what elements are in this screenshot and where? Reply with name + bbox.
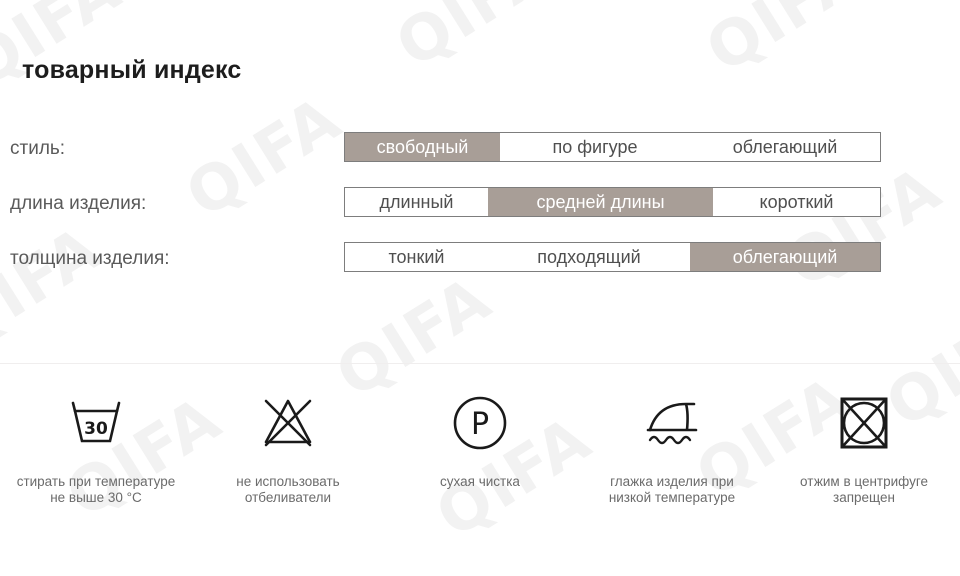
option-length-2[interactable]: короткий [713, 188, 880, 216]
care-caption-wash: стирать при температуре не выше 30 °C [17, 474, 176, 506]
option-style-1[interactable]: по фигуре [500, 133, 690, 161]
option-thickness-2[interactable]: облегающий [690, 243, 880, 271]
dry-clean-p-icon: P [450, 392, 510, 454]
attribute-list: стиль: свободный по фигуре облегающий дл… [0, 132, 960, 297]
attribute-row-length: длина изделия: длинный средней длины кор… [0, 187, 960, 242]
attribute-options-style[interactable]: свободный по фигуре облегающий [344, 132, 881, 162]
iron-low-temperature-icon [636, 392, 708, 454]
care-symbols-row: 30 стирать при температуре не выше 30 °C… [0, 392, 960, 506]
attribute-row-style: стиль: свободный по фигуре облегающий [0, 132, 960, 187]
wash-tub-30-icon: 30 [65, 392, 127, 454]
attribute-row-thickness: толщина изделия: тонкий подходящий облег… [0, 242, 960, 297]
attribute-options-length[interactable]: длинный средней длины короткий [344, 187, 881, 217]
option-style-2[interactable]: облегающий [690, 133, 880, 161]
page-title: товарный индекс [22, 56, 242, 85]
attribute-options-thickness[interactable]: тонкий подходящий облегающий [344, 242, 881, 272]
product-attributes-page: товарный индекс стиль: свободный по фигу… [0, 0, 960, 576]
care-caption-bleach: не использовать отбеливатели [236, 474, 339, 506]
care-caption-iron: глажка изделия при низкой температуре [609, 474, 735, 506]
do-not-tumble-spin-icon [834, 392, 894, 454]
option-length-1[interactable]: средней длины [488, 188, 713, 216]
care-item-iron: глажка изделия при низкой температуре [576, 392, 768, 506]
svg-text:P: P [471, 407, 489, 442]
attribute-label-style: стиль: [10, 138, 65, 160]
option-length-0[interactable]: длинный [345, 188, 488, 216]
attribute-label-length: длина изделия: [10, 193, 146, 215]
care-caption-spin: отжим в центрифуге запрещен [800, 474, 928, 506]
option-thickness-0[interactable]: тонкий [345, 243, 488, 271]
care-item-bleach: не использовать отбеливатели [192, 392, 384, 506]
care-item-spin: отжим в центрифуге запрещен [768, 392, 960, 506]
care-item-wash: 30 стирать при температуре не выше 30 °C [0, 392, 192, 506]
section-divider [0, 363, 960, 364]
option-thickness-1[interactable]: подходящий [488, 243, 690, 271]
do-not-bleach-icon [257, 392, 319, 454]
attribute-label-thickness: толщина изделия: [10, 248, 170, 270]
care-item-dryclean: P сухая чистка [384, 392, 576, 506]
svg-text:30: 30 [84, 419, 108, 439]
care-caption-dryclean: сухая чистка [440, 474, 520, 490]
option-style-0[interactable]: свободный [345, 133, 500, 161]
